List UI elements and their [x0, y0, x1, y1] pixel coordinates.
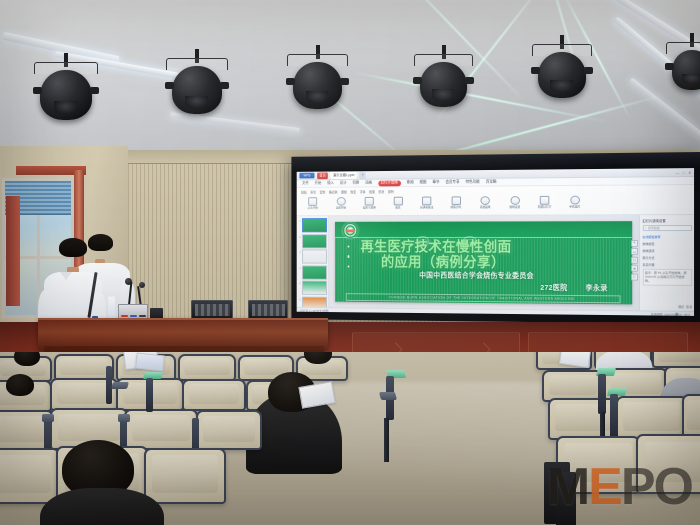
ribbon-btn-rehearse[interactable]: 排练计时: [444, 196, 468, 209]
seat-armrest: [146, 378, 153, 412]
editor-area[interactable]: 1 2 3 4 5: [297, 215, 694, 311]
slide-presenter-name: 李永录: [585, 283, 607, 294]
task-pane-title: 幻灯片放映设置: [642, 218, 691, 223]
spotlight-lens: [54, 101, 78, 114]
slide-thumbnail[interactable]: [302, 249, 327, 263]
quick-formatpainter[interactable]: 格式刷: [329, 189, 338, 194]
ribbon-tab-insert[interactable]: 插入: [327, 181, 334, 186]
thumbnail-number: 4: [298, 265, 301, 270]
slide-thumbnail-panel[interactable]: 1 2 3 4 5: [297, 216, 329, 307]
task-pane[interactable]: 幻灯片放映设置 ⌕ 搜索模板 在线模板推荐 放映类型 放映选项 换片方式 多显示…: [639, 215, 694, 311]
handout-paper: [135, 353, 165, 372]
armrest-pad: [111, 382, 129, 389]
task-pane-row-showoptions[interactable]: 放映选项: [642, 247, 691, 252]
screen-icon: [540, 196, 550, 205]
quick-paragraph[interactable]: 段落: [369, 189, 375, 194]
status-left-text: 幻灯片 1 / 28 中文(中国): [300, 309, 329, 313]
ok-button[interactable]: 确定: [678, 305, 684, 309]
ribbon-btn-label: 放映设置: [502, 206, 527, 209]
slide-title[interactable]: 再生医疗技术在慢性创面 的应用（病例分享）: [360, 240, 626, 272]
list-item[interactable]: 2: [298, 234, 326, 248]
maximize-icon[interactable]: □: [682, 170, 684, 175]
spotlight-knob: [584, 67, 593, 74]
ribbon-btn-presenter-notes[interactable]: 演讲者备注: [415, 197, 439, 210]
ribbon-tab-home[interactable]: 开始: [315, 181, 322, 186]
bullet-dot-icon: [348, 265, 350, 267]
view-mode-label[interactable]: 普通视图: [651, 312, 663, 315]
chart-icon: [451, 196, 460, 205]
thumbnail-number: 5: [298, 281, 301, 286]
window-controls[interactable]: — □ ✕: [675, 170, 691, 175]
armrest-pad: [42, 414, 54, 422]
seat[interactable]: [548, 398, 618, 440]
microphone-head: [139, 282, 145, 288]
spotlight-knob: [165, 82, 174, 89]
ribbon-tab-features[interactable]: 特色功能: [466, 180, 480, 185]
quick-redo[interactable]: 恢复: [350, 189, 356, 194]
ribbon-btn-label: 会议: [386, 206, 410, 209]
seat[interactable]: [182, 379, 246, 411]
titlebar-spacer: [369, 172, 673, 175]
podium-monitor: [248, 300, 288, 319]
led-display-screen[interactable]: WPS 首页 演示文稿1.pptx + — □ ✕ 文件 开始 插入 设计 切换…: [291, 152, 700, 324]
list-item[interactable]: 4: [298, 265, 326, 279]
slide-title-line1: 再生医疗技术在慢性创面: [360, 240, 511, 256]
list-item[interactable]: 1: [298, 218, 326, 232]
spotlight-lens: [682, 74, 700, 84]
head-back-of: [6, 374, 34, 396]
close-icon[interactable]: ✕: [688, 170, 691, 175]
quick-shape[interactable]: 形状: [378, 189, 384, 194]
spotlight-lens: [432, 89, 454, 101]
slide-thumbnail[interactable]: [302, 296, 327, 307]
stage-spotlight-icon: [172, 62, 222, 110]
ribbon-btn-label: 自定义放映: [357, 206, 381, 209]
quick-font[interactable]: 字体: [360, 189, 366, 194]
minimize-icon[interactable]: —: [675, 170, 679, 175]
ribbon-tab-review[interactable]: 审阅: [407, 180, 414, 185]
podium-monitor: [191, 300, 233, 319]
titlebar-tab-document[interactable]: 演示文稿1.pptx: [331, 172, 357, 179]
quick-cut[interactable]: 剪切: [310, 189, 316, 194]
stage-spotlight-icon: [538, 48, 586, 94]
ribbon-btn-label: 演讲者备注: [415, 206, 439, 209]
search-placeholder: 搜索模板: [648, 226, 660, 230]
ceiling-shading: [0, 0, 700, 168]
ribbon-btn-custom-show[interactable]: 自定义放映: [357, 197, 381, 210]
spotlight-knob: [665, 63, 674, 70]
watermark-p: P: [621, 458, 654, 516]
watermark-o: O: [654, 458, 692, 516]
shape-tool-icon[interactable]: ▭: [631, 248, 638, 255]
ribbon-btn-label: 隐藏幻灯片: [532, 206, 557, 209]
stage-spotlight-icon: [420, 58, 467, 103]
thumbnail-number: 1: [298, 218, 301, 223]
ribbon-tab-section[interactable]: 章节: [432, 180, 439, 185]
seat-armrest: [598, 374, 606, 414]
ribbon-btn-phone-remote[interactable]: 手机遥控: [562, 196, 587, 209]
ribbon-tab-member[interactable]: 会员专享: [445, 180, 459, 185]
spotlight-knob: [33, 87, 42, 94]
spotlight-knob: [340, 78, 349, 85]
spotlight-knob: [413, 77, 422, 84]
ribbon-tab-toolbox[interactable]: 百宝箱: [486, 180, 497, 185]
ribbon-btn-label: 当前开始: [329, 207, 352, 210]
ribbon-btn-from-current[interactable]: 当前开始: [329, 197, 352, 210]
spotlight-lens: [185, 96, 208, 108]
ribbon-tab-animation[interactable]: 动画: [365, 181, 372, 186]
titlebar-tab-home[interactable]: 首页: [317, 172, 328, 179]
task-pane-search[interactable]: ⌕ 搜索模板: [642, 225, 691, 231]
thumbnail-number: 3: [298, 249, 301, 254]
task-pane-row-showtype[interactable]: 放映类型: [642, 240, 691, 245]
slide-subtitle-organization[interactable]: 中国中西医结合学会烧伤专业委员会: [335, 270, 624, 282]
slide-thumbnail[interactable]: [302, 234, 327, 248]
clock-icon: [510, 196, 519, 205]
list-item[interactable]: 6: [298, 296, 326, 307]
ribbon-btn-show-settings[interactable]: 放映设置: [502, 196, 527, 209]
seat-armrest: [610, 394, 618, 438]
seat[interactable]: [54, 354, 114, 381]
wps-logo[interactable]: WPS: [299, 172, 314, 178]
thumbnail-number: 2: [298, 234, 301, 239]
slide-thumbnail[interactable]: [302, 218, 327, 232]
spotlight-lens: [550, 80, 572, 92]
water-bottle: [108, 296, 115, 320]
quick-arrange[interactable]: 排列: [388, 189, 394, 194]
spotlight-knob: [465, 77, 474, 84]
task-pane-hint: 提示：按 F5 从头开始放映，按 Shift+F5 从当前幻灯片开始放映。: [642, 268, 691, 286]
stage-spotlight-icon: [672, 46, 700, 86]
play-tool-icon[interactable]: ▷: [631, 274, 638, 281]
spotlight-lens: [306, 91, 329, 103]
thumbnail-number: 6: [298, 296, 301, 301]
quick-paste[interactable]: 粘贴: [301, 189, 307, 194]
quick-copy[interactable]: 复制: [320, 189, 326, 194]
ribbon-btn-hide-slide[interactable]: 隐藏幻灯片: [532, 196, 557, 209]
ribbon-btn-label: 手机遥控: [562, 206, 587, 209]
spotlight-housing: [672, 50, 700, 90]
indicator-dark: [139, 315, 146, 317]
seat[interactable]: [0, 448, 60, 504]
quick-undo[interactable]: 撤销: [341, 189, 347, 194]
slide-canvas[interactable]: 再生医疗技术在慢性创面 的应用（病例分享） 中国中西医结合学会烧伤专业委员会 2…: [329, 215, 639, 310]
slide-thumbnail[interactable]: [302, 265, 327, 279]
ribbon-tab-slideshow[interactable]: 幻灯片放映: [378, 180, 401, 186]
spotlight-knob: [90, 87, 99, 94]
slide-thumbnail[interactable]: [302, 281, 327, 295]
list-item[interactable]: 3: [298, 249, 326, 263]
spotlight-knob: [220, 82, 229, 89]
pen-icon: [480, 196, 489, 205]
slide-header-band: [335, 221, 633, 238]
ribbon-btn-label: 排练计时: [444, 206, 468, 209]
slide-presenter-line[interactable]: 272医院 李永录: [540, 282, 608, 293]
add-tool-icon[interactable]: ⊕: [631, 265, 638, 272]
cancel-button[interactable]: 取消: [686, 305, 692, 309]
seat[interactable]: [196, 410, 262, 450]
watermark-logo: MEPO: [547, 461, 692, 513]
comment-icon: [308, 197, 317, 206]
ribbon-btn-meeting[interactable]: 会议: [386, 197, 410, 210]
ribbon-tab-file[interactable]: 文件: [302, 181, 309, 186]
ribbon-tab-transition[interactable]: 切换: [352, 181, 359, 186]
task-pane-link[interactable]: 在线模板推荐: [642, 234, 691, 239]
bullet-dot-icon: [348, 256, 350, 258]
slide-hospital: 272医院: [540, 282, 567, 293]
seat-leg: [384, 418, 389, 462]
seat[interactable]: [178, 354, 236, 381]
shirt-collar: [60, 272, 72, 280]
pen-tool-icon[interactable]: ✎: [631, 240, 638, 247]
frame-tool-icon[interactable]: ◻: [631, 257, 638, 264]
cast-icon: [570, 196, 580, 205]
stage-spotlight-icon: [40, 66, 92, 116]
monitor-icon: [365, 197, 374, 206]
armrest-pad: [379, 392, 397, 400]
indicator-blue: [130, 315, 137, 317]
ribbon-tab-design[interactable]: 设计: [340, 181, 347, 186]
zoom-control[interactable]: 普通视图 66%: [651, 312, 690, 315]
monitor-screen: [252, 304, 285, 316]
task-pane-row-advance[interactable]: 换片方式: [642, 254, 691, 259]
watermark-m: M: [547, 458, 588, 516]
ribbon-btn-label: 墨迹画笔: [473, 206, 497, 209]
conference-hall-photo: WPS 首页 演示文稿1.pptx + — □ ✕ 文件 开始 插入 设计 切换…: [0, 0, 700, 525]
window-red-trim: [6, 196, 20, 306]
monitor-screen: [195, 304, 230, 316]
list-item[interactable]: 5: [298, 281, 326, 295]
presenter-icon: [422, 197, 431, 206]
zoom-slider[interactable]: [664, 314, 682, 316]
indicator-red: [121, 315, 128, 317]
spotlight-knob: [286, 78, 295, 85]
watermark-e: E: [588, 458, 621, 516]
grid-icon: [393, 197, 402, 206]
ribbon-btn-label: 从头开始: [301, 207, 324, 210]
slide-floating-toolbar[interactable]: ✎ ▭ ◻ ⊕ ▷: [631, 240, 638, 281]
screen-content[interactable]: WPS 首页 演示文稿1.pptx + — □ ✕ 文件 开始 插入 设计 切换…: [297, 168, 694, 316]
ceiling: [0, 0, 700, 168]
ribbon-tab-view[interactable]: 视图: [419, 180, 426, 185]
ribbon-body[interactable]: 从头开始 当前开始 自定义放映 会议 演讲者备注: [297, 193, 694, 216]
titlebar-tab-new[interactable]: +: [360, 172, 366, 179]
ribbon-btn-from-start[interactable]: 从头开始: [301, 197, 324, 209]
bullet-dot-icon: [348, 246, 350, 248]
current-slide[interactable]: 再生医疗技术在慢性创面 的应用（病例分享） 中国中西医结合学会烧伤专业委员会 2…: [335, 221, 633, 305]
search-icon: ⌕: [645, 226, 647, 230]
seat[interactable]: [144, 448, 226, 504]
ribbon-btn-ink-pen[interactable]: 墨迹画笔: [473, 196, 497, 209]
task-pane-row-monitors[interactable]: 多显示器: [642, 261, 691, 266]
stage-spotlight-icon: [293, 58, 342, 105]
play-icon: [336, 197, 345, 206]
spotlight-knob: [531, 67, 540, 74]
armrest-pad: [118, 414, 130, 422]
seat[interactable]: [124, 409, 198, 450]
task-pane-footer[interactable]: 确定 取消: [678, 305, 692, 309]
zoom-level: 66%: [684, 313, 690, 316]
